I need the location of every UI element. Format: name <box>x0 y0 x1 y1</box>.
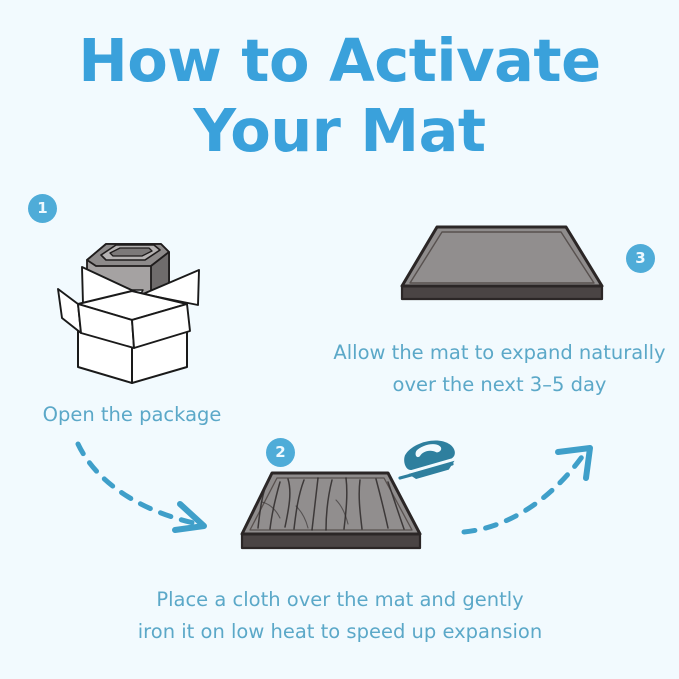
step-badge-3-number: 3 <box>635 251 645 266</box>
step-badge-3: 3 <box>626 244 655 273</box>
expanded-mat-icon <box>396 220 608 316</box>
infographic-canvas: How to Activate Your Mat 1 <box>0 0 679 679</box>
step-1-caption: Open the package <box>0 399 264 431</box>
open-box-icon <box>48 222 220 390</box>
page-title: How to Activate Your Mat <box>0 26 679 165</box>
step-badge-1-number: 1 <box>37 201 47 216</box>
step-badge-1: 1 <box>28 194 57 223</box>
arrow-step1-to-step2-icon <box>72 438 242 542</box>
step-badge-2-number: 2 <box>275 445 285 460</box>
step-3-caption: Allow the mat to expand naturally over t… <box>320 337 679 400</box>
arrow-step2-to-step3-icon <box>458 436 608 545</box>
step-2-caption: Place a cloth over the mat and gently ir… <box>108 584 572 647</box>
page-title-line-1: How to Activate <box>0 26 679 96</box>
page-title-line-2: Your Mat <box>0 96 679 166</box>
step-badge-2: 2 <box>266 438 295 467</box>
